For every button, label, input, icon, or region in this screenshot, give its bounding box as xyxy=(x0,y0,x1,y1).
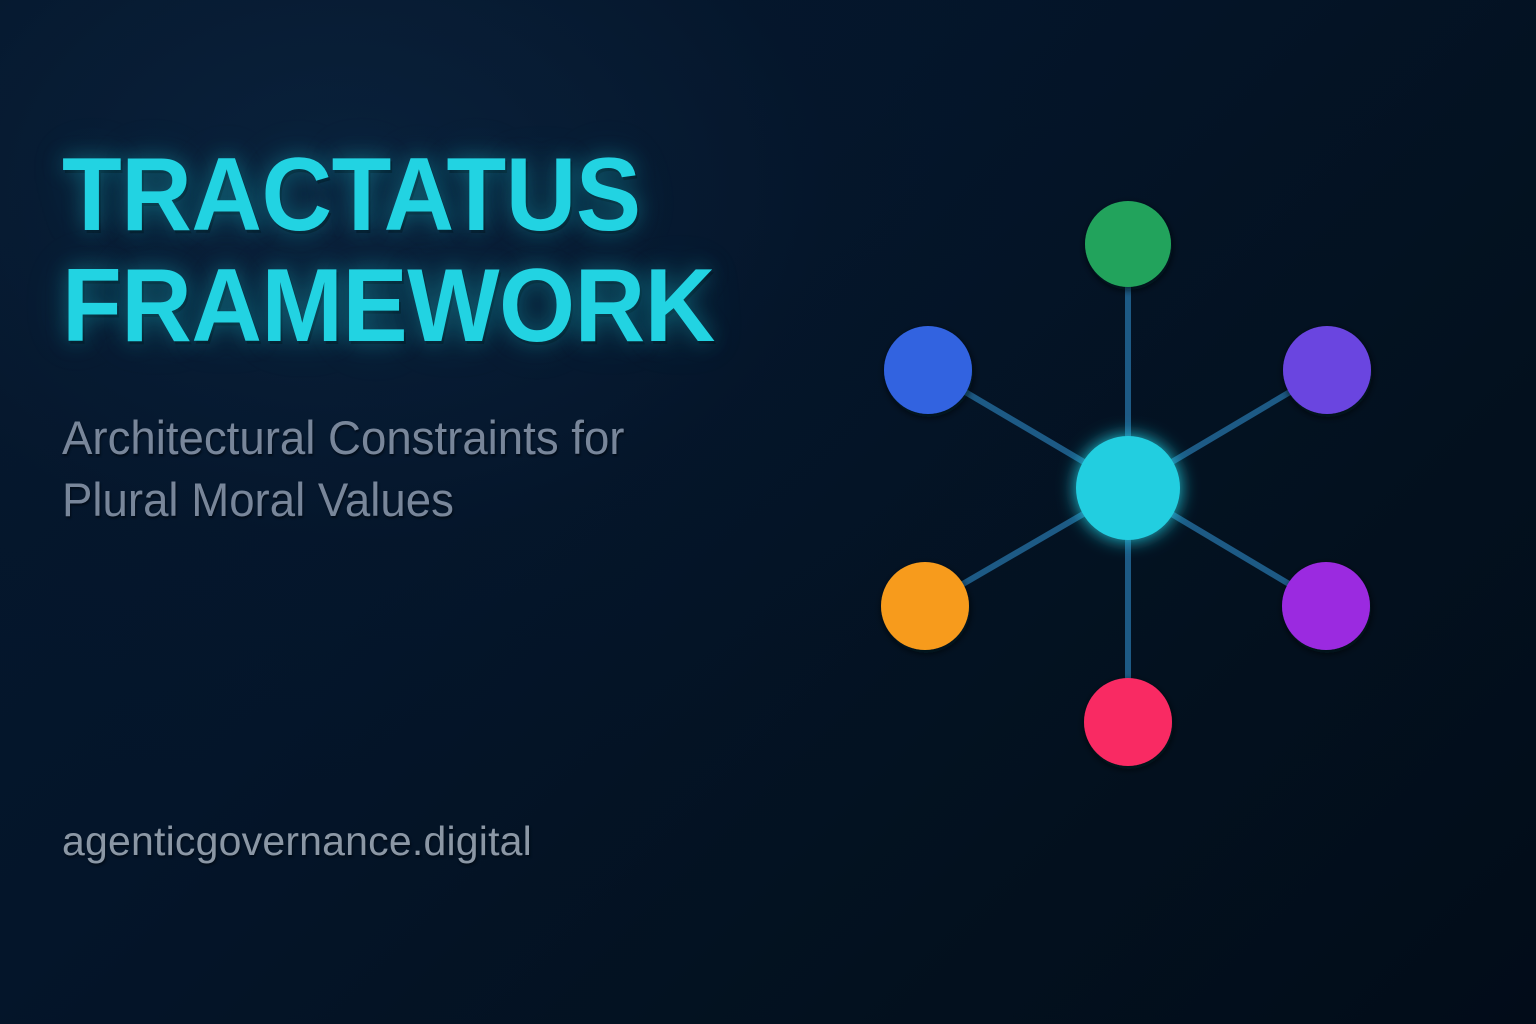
hero-text-block: TRACTATUS FRAMEWORK Architectural Constr… xyxy=(62,140,822,531)
node-orange-lower-left[interactable] xyxy=(881,562,969,650)
node-violet-upper-right[interactable] xyxy=(1283,326,1371,414)
footer-url[interactable]: agenticgovernance.digital xyxy=(62,818,532,865)
slide-canvas: TRACTATUS FRAMEWORK Architectural Constr… xyxy=(0,0,1536,1024)
node-blue-upper-left[interactable] xyxy=(884,326,972,414)
node-purple-lower-right[interactable] xyxy=(1282,562,1370,650)
node-pink-bottom[interactable] xyxy=(1084,678,1172,766)
node-green-top[interactable] xyxy=(1085,201,1171,287)
central-hub-node[interactable] xyxy=(1076,436,1180,540)
diagram-nodes xyxy=(881,201,1371,766)
hub-and-spoke-diagram xyxy=(820,130,1480,850)
page-subtitle: Architectural Constraints for Plural Mor… xyxy=(62,407,799,531)
page-title: TRACTATUS FRAMEWORK xyxy=(62,140,776,363)
